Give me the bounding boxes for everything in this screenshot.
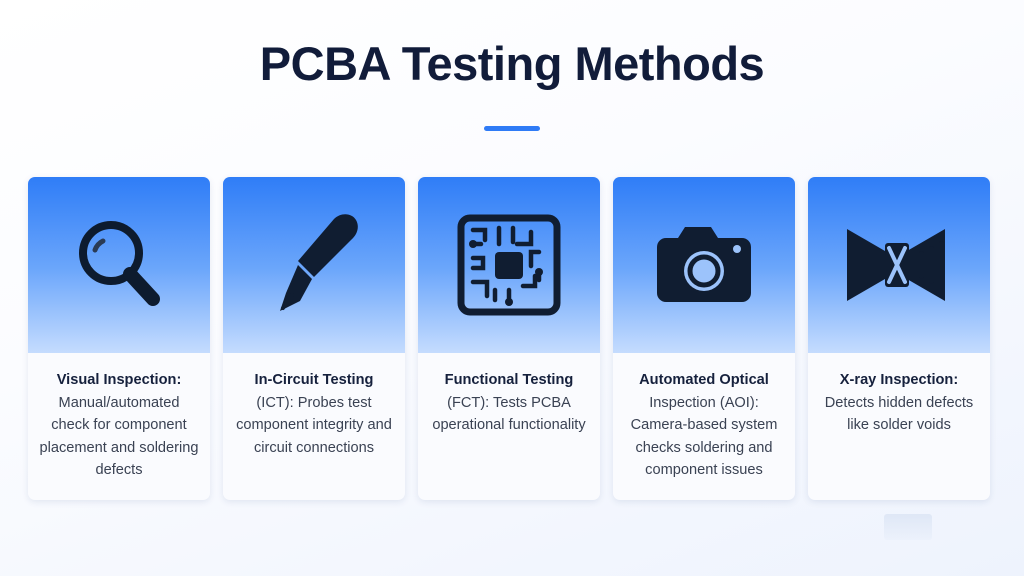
camera-icon: [649, 219, 759, 311]
card-text: Visual Inspection: Manual/automated chec…: [28, 353, 210, 500]
decorative-watermark: [884, 514, 932, 540]
circuit-board-chip-icon: [453, 212, 565, 318]
card-xray-inspection[interactable]: X-ray Inspection: Detects hidden defects…: [808, 177, 990, 500]
magnifying-glass-icon: [67, 213, 171, 317]
card-text: X-ray Inspection: Detects hidden defects…: [808, 353, 990, 455]
card-automated-optical-inspection[interactable]: Automated Optical Inspection (AOI): Came…: [613, 177, 795, 500]
card-visual-inspection[interactable]: Visual Inspection: Manual/automated chec…: [28, 177, 210, 500]
card-icon-area: [418, 177, 600, 353]
card-heading: X-ray Inspection:: [840, 372, 958, 388]
card-description: Detects hidden defects like solder voids: [825, 395, 973, 434]
card-icon-area: [613, 177, 795, 353]
card-icon-area: [28, 177, 210, 353]
x-ray-icon: [841, 221, 957, 309]
card-description: Inspection (AOI): Camera-based system ch…: [631, 395, 778, 479]
card-functional-testing[interactable]: Functional Testing (FCT): Tests PCBA ope…: [418, 177, 600, 500]
title-underline-divider: [484, 126, 540, 131]
card-description: (ICT): Probes test component integrity a…: [236, 395, 392, 456]
slide-canvas: PCBA Testing Methods Visual Inspection:: [0, 0, 1024, 576]
card-heading: Automated Optical: [639, 372, 769, 388]
card-description: Manual/automated check for component pla…: [39, 395, 198, 479]
card-heading: In-Circuit Testing: [255, 372, 374, 388]
card-text: Functional Testing (FCT): Tests PCBA ope…: [418, 353, 600, 455]
card-row: Visual Inspection: Manual/automated chec…: [28, 177, 996, 500]
card-text: Automated Optical Inspection (AOI): Came…: [613, 353, 795, 500]
card-text: In-Circuit Testing (ICT): Probes test co…: [223, 353, 405, 477]
test-probe-pen-icon: [262, 209, 366, 321]
card-in-circuit-testing[interactable]: In-Circuit Testing (ICT): Probes test co…: [223, 177, 405, 500]
card-icon-area: [223, 177, 405, 353]
card-heading: Visual Inspection:: [57, 372, 182, 388]
page-title: PCBA Testing Methods: [0, 36, 1024, 91]
card-heading: Functional Testing: [445, 372, 574, 388]
card-icon-area: [808, 177, 990, 353]
card-description: (FCT): Tests PCBA operational functional…: [432, 395, 585, 434]
